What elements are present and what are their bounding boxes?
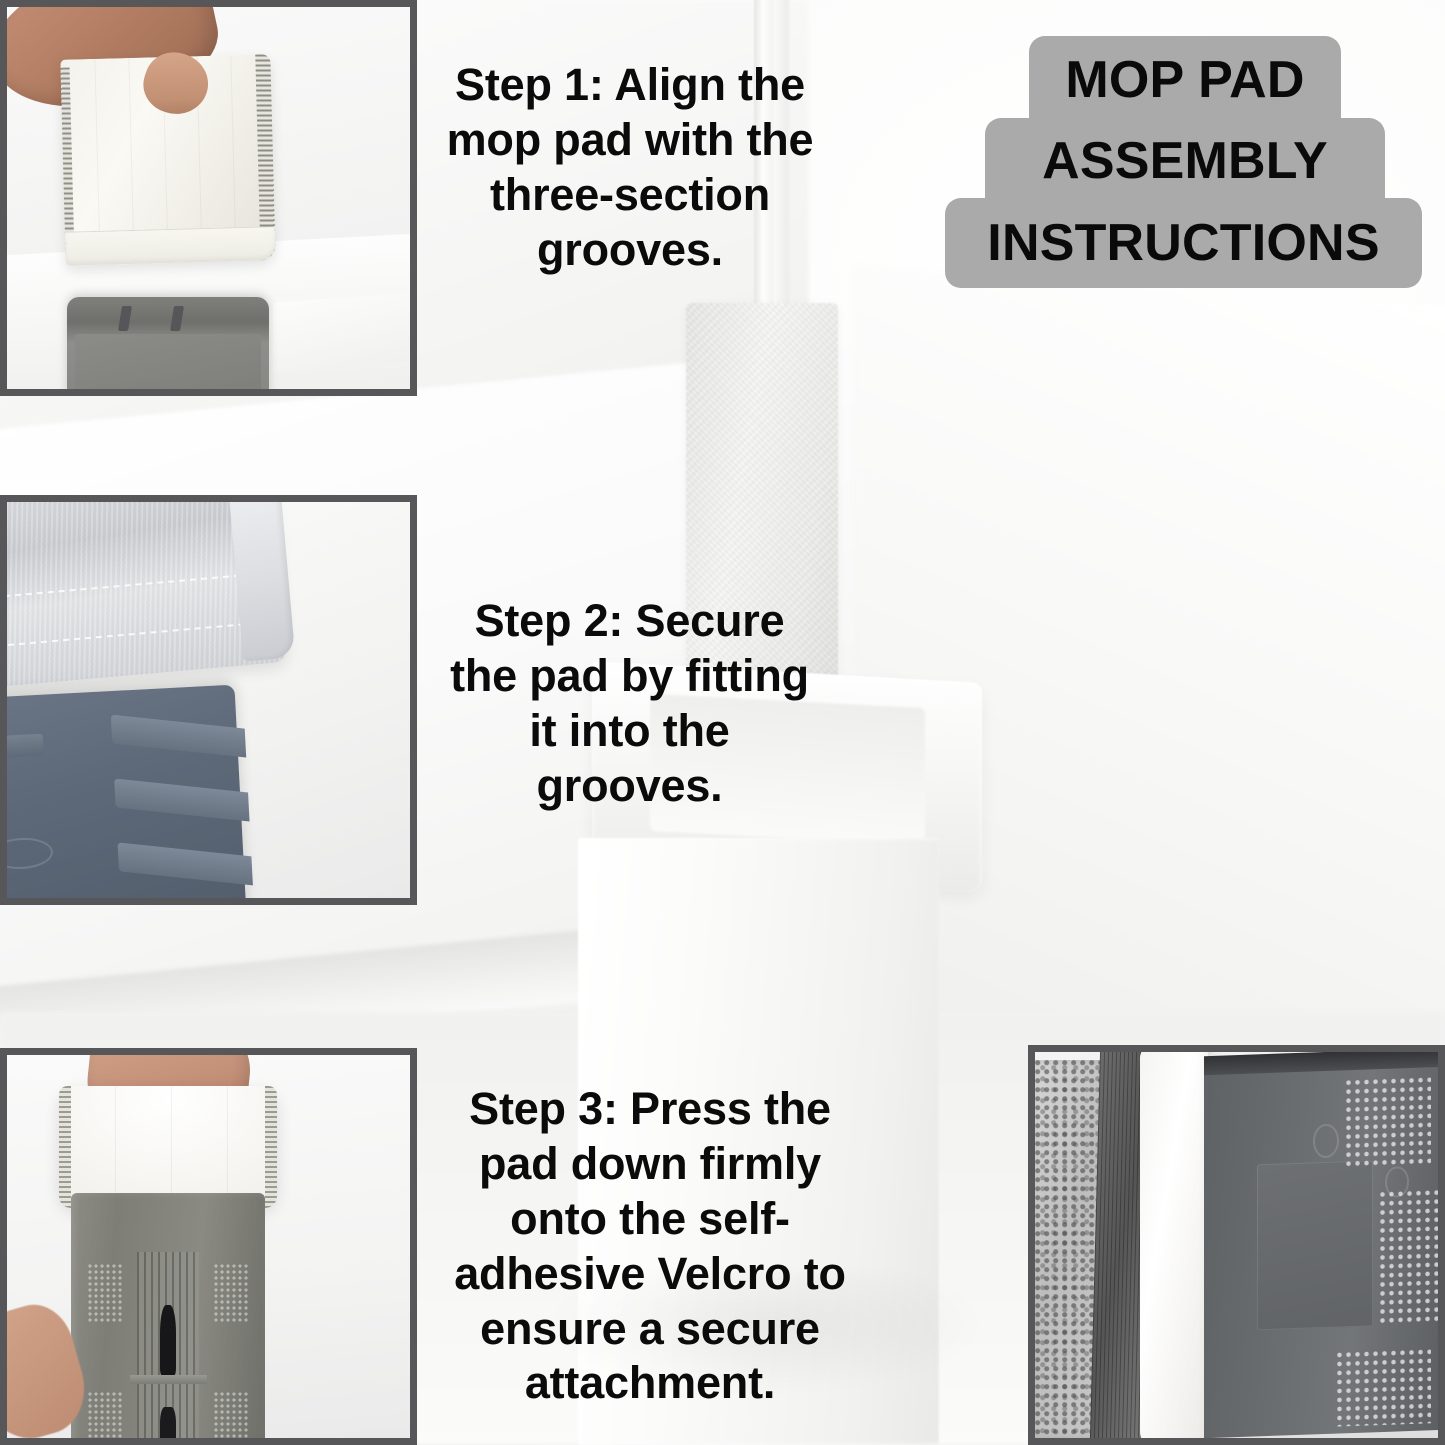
infographic-canvas: MOP PAD ASSEMBLY INSTRUCTIONS Step 1: Al…: [0, 0, 1445, 1445]
photo-1-groove-1: [118, 306, 132, 331]
photo-step-3: [7, 1055, 410, 1438]
photo-3-grip-patch-1: [87, 1263, 124, 1322]
photo-step-1: [7, 7, 410, 389]
photo-2-mop-pad: [7, 502, 289, 690]
photo-3-grip-patch-2: [213, 1263, 250, 1322]
photo-3-mop-plate: [71, 1193, 264, 1438]
title-badge: MOP PAD ASSEMBLY INSTRUCTIONS: [945, 36, 1422, 288]
photo-2-mop-plate: [7, 685, 247, 898]
photo-3-pad-edge-left: [59, 1086, 71, 1209]
photo-3-pad-edge-right: [265, 1086, 277, 1209]
photo-4-circle-marking-1: [1313, 1123, 1339, 1158]
photo-2-embossed-circle: [7, 837, 53, 871]
photo-panel-step-2: [0, 495, 417, 905]
photo-velcro-detail: [1035, 1052, 1438, 1438]
photo-4-grip-patch-2: [1378, 1188, 1438, 1326]
badge-line-2: ASSEMBLY: [985, 118, 1385, 204]
photo-3-center-clip: [160, 1305, 175, 1375]
photo-2-embossed-marking: [7, 734, 43, 760]
photo-4-grip-patch-1: [1344, 1075, 1431, 1169]
photo-step-2: [7, 502, 410, 898]
photo-3-center-clip-lower: [160, 1407, 175, 1438]
caption-step-3: Step 3: Press the pad down firmly onto t…: [440, 1082, 860, 1411]
photo-panel-step-1: [0, 0, 417, 396]
photo-2-groove-1: [111, 715, 247, 759]
photo-2-groove-2: [114, 779, 250, 823]
badge-line-1: MOP PAD: [1029, 36, 1341, 124]
photo-2-groove-3: [117, 842, 253, 886]
photo-4-mop-plate: [1204, 1052, 1438, 1438]
caption-step-2: Step 2: Secure the pad by fitting it int…: [437, 594, 822, 814]
photo-1-mop-head-face: [75, 334, 260, 389]
photo-3-crossbar-1: [130, 1375, 207, 1384]
photo-3-grip-patch-3: [87, 1391, 124, 1438]
photo-4-plate-inset: [1257, 1160, 1373, 1330]
photo-panel-velcro-detail: [1028, 1045, 1445, 1445]
photo-3-grip-patch-4: [213, 1391, 250, 1438]
photo-1-mop-head: [67, 297, 269, 389]
photo-1-box: [273, 292, 410, 372]
photo-3-velcro-pad: [59, 1086, 277, 1209]
photo-4-foam-edge: [1140, 1052, 1209, 1438]
photo-panel-step-3: [0, 1048, 417, 1445]
badge-line-3: INSTRUCTIONS: [945, 198, 1422, 288]
photo-1-groove-2: [170, 306, 184, 331]
photo-4-grip-patch-3: [1335, 1347, 1432, 1426]
photo-1-pad-hem: [65, 226, 275, 265]
caption-step-1: Step 1: Align the mop pad with the three…: [430, 58, 830, 278]
